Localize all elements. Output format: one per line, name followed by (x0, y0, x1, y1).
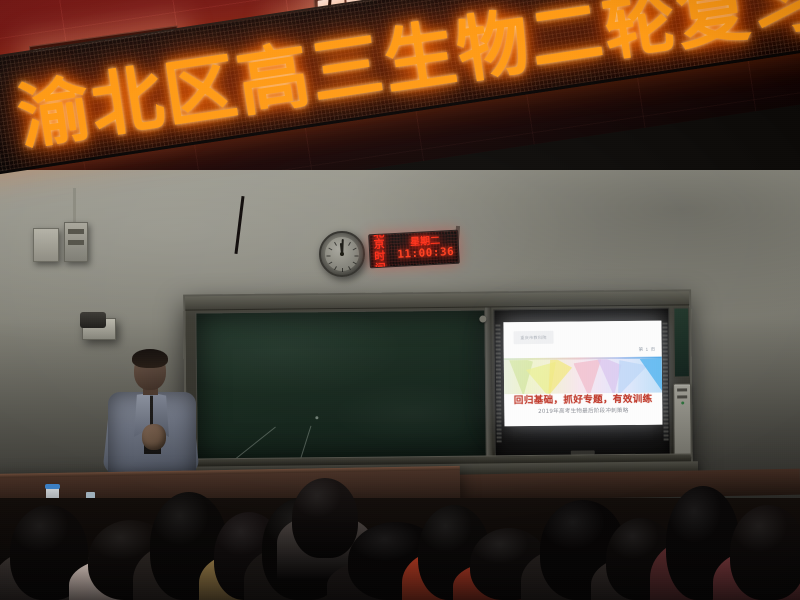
chalk-dot (315, 416, 318, 419)
slide-subtitle: 2019年高考生物最后阶段冲刺策略 (504, 406, 662, 416)
electrical-box-icon (33, 228, 59, 262)
audience-13-head (730, 505, 800, 600)
slide-title: 回归基础，抓好专题，有效训练 (504, 391, 662, 407)
clock-center-pin (340, 252, 344, 256)
board-divider (485, 307, 493, 459)
classroom-photo: 渝北区高三生物二轮复习教研活动 北京 (0, 0, 800, 600)
junction-box-icon (64, 222, 88, 262)
wall-clock (319, 231, 365, 277)
slide-color-ribbon (504, 359, 662, 395)
wall-conduit (73, 188, 76, 224)
power-led-icon (681, 401, 684, 404)
water-cup-lid (45, 484, 60, 489)
blackboard-assembly: 重庆市教科院 第 1 页 回归基础，抓好专题，有效训练 2019年高考生物最后阶… (183, 289, 693, 472)
side-chalkboard-strip (673, 307, 690, 377)
panel-speaker-right-icon (662, 323, 668, 441)
presenter-hair (132, 349, 168, 368)
digital-clock-display: 北京 时间 星期二 11:00:36 (368, 230, 460, 269)
presentation-slide: 重庆市教科院 第 1 页 回归基础，抓好专题，有效训练 2019年高考生物最后阶… (503, 321, 662, 427)
presenter-hands (142, 424, 166, 450)
slide-watermark: 重庆市教科院 (513, 331, 553, 344)
av-control-panel[interactable] (673, 383, 692, 457)
panel-speaker-left-icon (495, 324, 501, 442)
clock-face (325, 237, 359, 271)
slide-corner-mark: 第 1 页 (639, 347, 656, 353)
digital-label-line2: 时间 (374, 250, 393, 268)
slide-watermark-text: 重庆市教科院 (520, 334, 546, 340)
green-chalkboard[interactable] (195, 310, 487, 461)
wall-speaker-icon (80, 312, 106, 328)
audience-6-head (292, 478, 358, 558)
digital-clock-label: 北京 时间 (373, 230, 393, 269)
board-slide-knob[interactable] (479, 315, 486, 322)
digital-clock-readout: 星期二 11:00:36 (396, 235, 454, 261)
interactive-flat-panel[interactable]: 重庆市教科院 第 1 页 回归基础，抓好专题，有效训练 2019年高考生物最后阶… (493, 308, 671, 460)
chalk-smudge (196, 311, 486, 460)
